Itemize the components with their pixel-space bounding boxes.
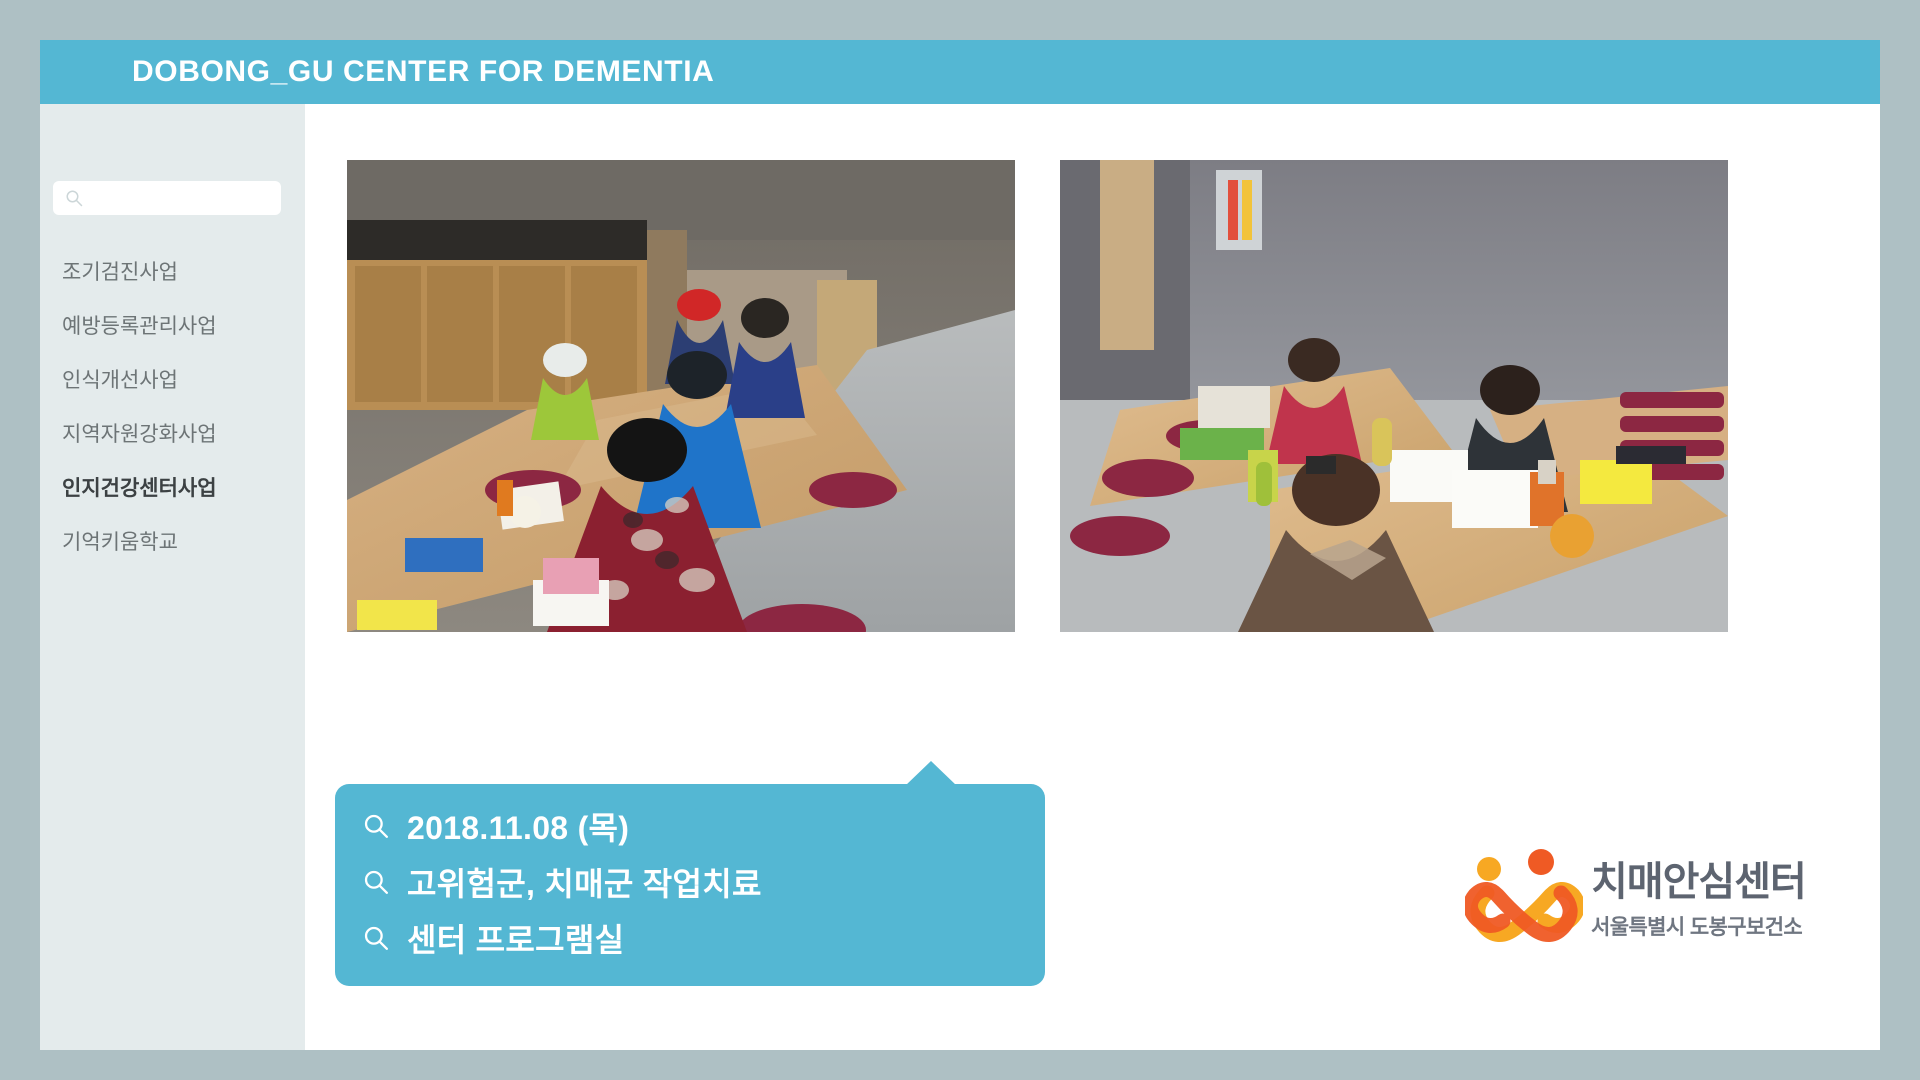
organization-logo: 치매안심센터 서울특별시 도봉구보건소 bbox=[1465, 839, 1845, 949]
sidebar-item-label: 조기검진사업 bbox=[62, 261, 178, 284]
dementia-care-center-logo-icon bbox=[1465, 847, 1583, 943]
logo-title: 치매안심센터 bbox=[1591, 849, 1841, 907]
sidebar-item-label: 예방등록관리사업 bbox=[62, 315, 217, 338]
sidebar-item-label: 기억키움학교 bbox=[62, 531, 178, 554]
photo-right bbox=[1060, 160, 1728, 632]
slide-frame: DOBONG_GU CENTER FOR DEMENTIA 조기검진사업 예방등… bbox=[40, 40, 1880, 1050]
sidebar-item-label: 인지건강센터사업 bbox=[62, 477, 217, 500]
sidebar-item-awareness[interactable]: 인식개선사업 bbox=[40, 354, 305, 408]
sidebar-menu: 조기검진사업 예방등록관리사업 인식개선사업 지역자원강화사업 인지건강센터사업… bbox=[40, 246, 305, 570]
sidebar-item-cognitive-health-center[interactable]: 인지건강센터사업 bbox=[40, 462, 305, 516]
sidebar-item-memory-school[interactable]: 기억키움학교 bbox=[40, 516, 305, 570]
caption-row-date: 2018.11.08 (목) bbox=[335, 798, 1045, 854]
search-icon bbox=[363, 813, 389, 839]
caption-location: 센터 프로그램실 bbox=[407, 915, 624, 961]
search-icon bbox=[363, 869, 389, 895]
page-title: DOBONG_GU CENTER FOR DEMENTIA bbox=[132, 55, 714, 89]
photo-right-image bbox=[1060, 160, 1728, 632]
header-bar: DOBONG_GU CENTER FOR DEMENTIA bbox=[40, 40, 1880, 104]
main-content: 2018.11.08 (목) 고위험군, 치매군 작업치료 센터 프로그램실 bbox=[305, 104, 1880, 1050]
search-icon bbox=[363, 925, 389, 951]
photo-left-image bbox=[347, 160, 1015, 632]
sidebar-item-early-screening[interactable]: 조기검진사업 bbox=[40, 246, 305, 300]
search-input[interactable] bbox=[91, 181, 277, 217]
search-icon bbox=[65, 189, 83, 207]
sidebar-item-community-resources[interactable]: 지역자원강화사업 bbox=[40, 408, 305, 462]
sidebar-item-prevention-registration[interactable]: 예방등록관리사업 bbox=[40, 300, 305, 354]
caption-program: 고위험군, 치매군 작업치료 bbox=[407, 859, 762, 905]
search-box[interactable] bbox=[53, 181, 281, 215]
photo-left bbox=[347, 160, 1015, 632]
callout-pointer-icon bbox=[905, 761, 957, 786]
caption-date: 2018.11.08 (목) bbox=[407, 803, 629, 849]
sidebar-item-label: 인식개선사업 bbox=[62, 369, 178, 392]
caption-callout: 2018.11.08 (목) 고위험군, 치매군 작업치료 센터 프로그램실 bbox=[335, 784, 1045, 986]
sidebar: 조기검진사업 예방등록관리사업 인식개선사업 지역자원강화사업 인지건강센터사업… bbox=[40, 104, 305, 1050]
caption-row-location: 센터 프로그램실 bbox=[335, 910, 1045, 966]
caption-row-program: 고위험군, 치매군 작업치료 bbox=[335, 854, 1045, 910]
sidebar-item-label: 지역자원강화사업 bbox=[62, 423, 217, 446]
logo-subtitle: 서울특별시 도봉구보건소 bbox=[1591, 911, 1841, 941]
